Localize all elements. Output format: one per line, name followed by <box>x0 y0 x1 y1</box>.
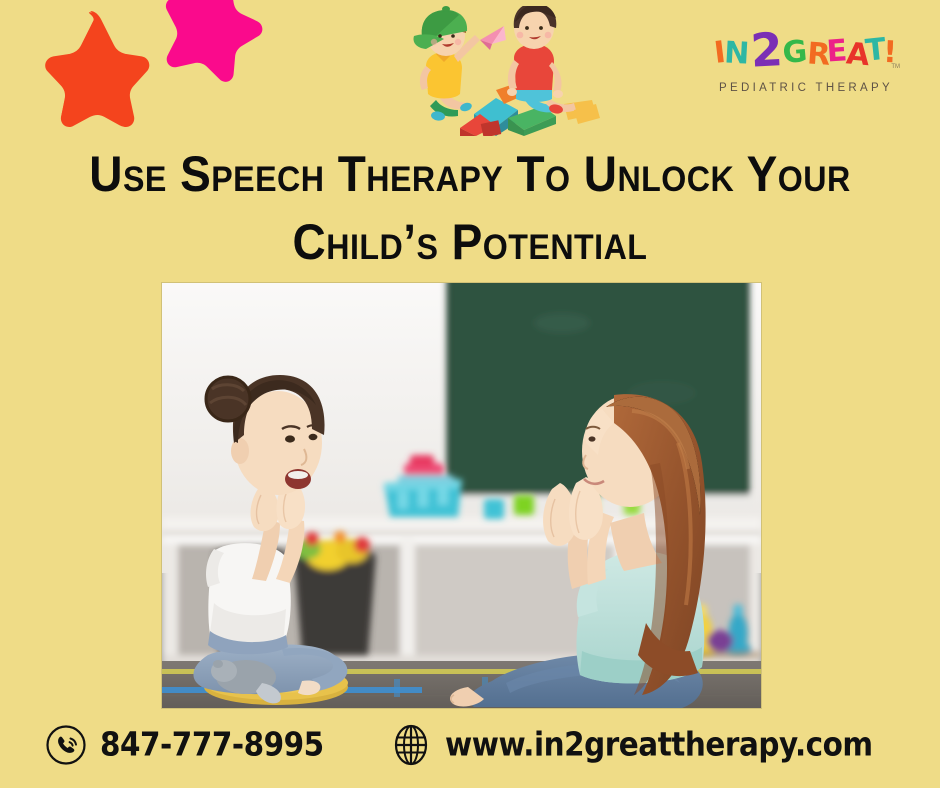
child-with-red-shirt <box>507 6 576 115</box>
hair-bun <box>206 377 250 421</box>
website-contact[interactable]: www.in2greattherapy.com <box>390 724 895 766</box>
globe-icon[interactable] <box>390 724 432 766</box>
orange-star-icon <box>27 6 153 132</box>
speech-therapy-session-photo <box>162 283 761 708</box>
contact-footer: 847-777-8995 www.in2greattherapy.com <box>0 714 940 776</box>
in2great-wordmark: I N 2 G R E A T ! <box>713 24 899 76</box>
headline-line-1: Use Speech Therapy To Unlock Your <box>38 140 903 208</box>
phone-number-text[interactable]: 847-777-8995 <box>100 726 324 764</box>
phone-call-icon[interactable] <box>45 724 87 766</box>
page-title: Use Speech Therapy To Unlock Your Child’… <box>0 140 940 276</box>
website-url-text[interactable]: www.in2greattherapy.com <box>445 726 873 764</box>
in2great-logo: I N 2 G R E A T ! PEDIATRIC THERAPY TM <box>706 24 906 110</box>
logo-letter-n: N <box>723 35 750 71</box>
logo-letter-2: 2 <box>749 24 784 76</box>
pink-star-icon <box>132 0 283 94</box>
phone-contact[interactable]: 847-777-8995 <box>45 724 335 766</box>
two-children-playing-illustration <box>396 6 612 136</box>
trademark-mark: TM <box>891 64 900 70</box>
logo-tagline: PEDIATRIC THERAPY <box>706 82 906 94</box>
poster-root: I N 2 G R E A T ! PEDIATRIC THERAPY TM U… <box>0 0 940 788</box>
logo-letter-g: G <box>781 34 809 71</box>
photo-scene <box>162 283 761 708</box>
headline-line-2: Child’s Potential <box>38 208 903 276</box>
